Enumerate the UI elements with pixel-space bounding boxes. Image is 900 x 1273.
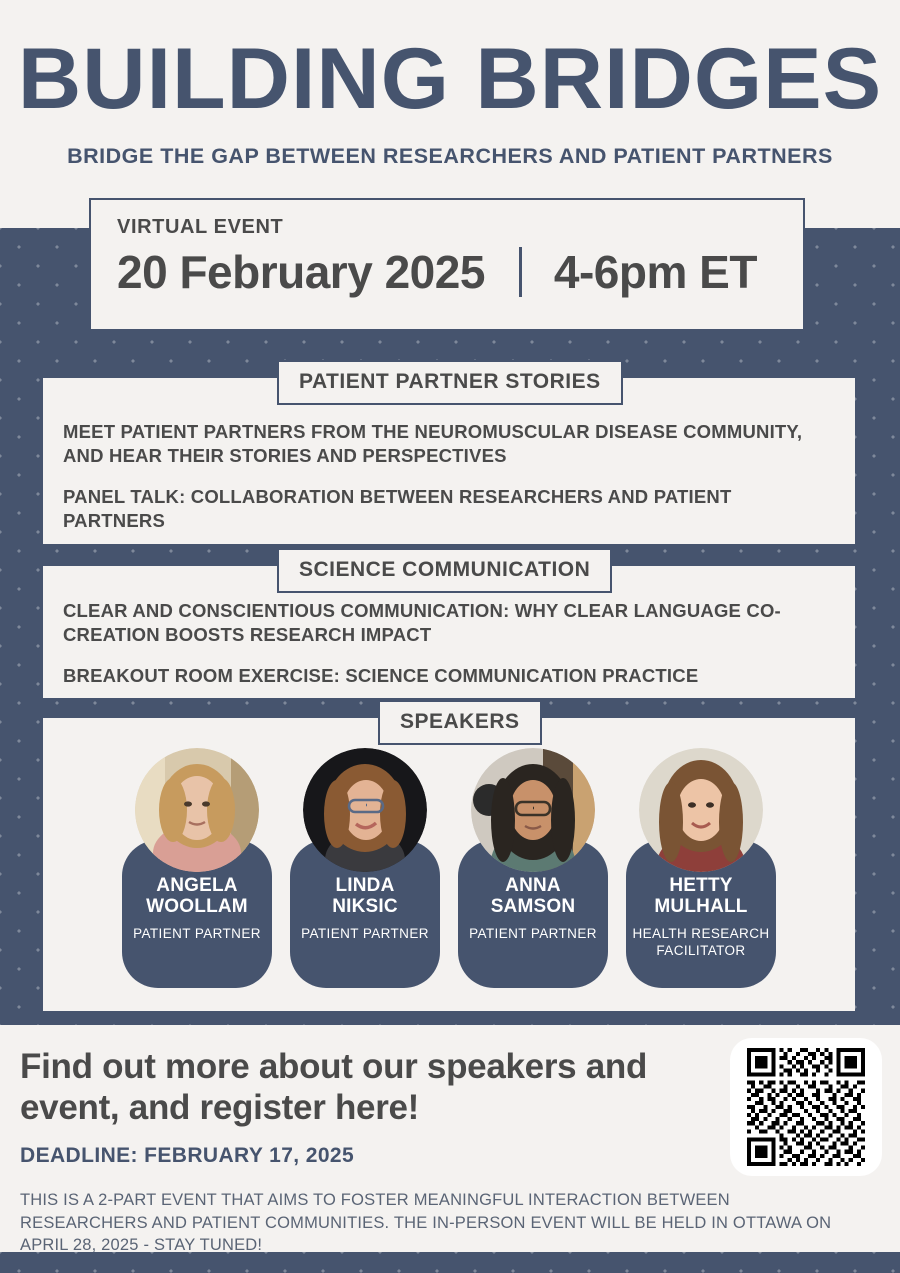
section-item: BREAKOUT ROOM EXERCISE: SCIENCE COMMUNIC…: [63, 664, 835, 688]
speaker-name-line-2: SAMSON: [462, 897, 604, 918]
poster-header: BUILDING BRIDGES BRIDGE THE GAP BETWEEN …: [0, 0, 900, 228]
footer-heading: Find out more about our speakers and eve…: [20, 1047, 710, 1128]
speaker-text: HETTY MULHALL HEALTH RESEARCH FACILITATO…: [626, 876, 776, 959]
speaker-name-line-1: ANGELA: [126, 876, 268, 897]
speaker-text: ANNA SAMSON PATIENT PARTNER: [458, 876, 608, 943]
event-date: 20 February 2025: [117, 245, 485, 299]
section-label-science-communication: SCIENCE COMMUNICATION: [277, 548, 612, 593]
speaker-name-line-1: HETTY: [630, 876, 772, 897]
speaker-card-angela-woollam: ANGELA WOOLLAM PATIENT PARTNER: [122, 748, 272, 988]
page-title: BUILDING BRIDGES: [0, 0, 900, 122]
event-time: 4-6pm ET: [554, 245, 757, 299]
section-item: CLEAR AND CONSCIENTIOUS COMMUNICATION: W…: [63, 599, 835, 648]
speaker-photo-angela-woollam: [135, 748, 259, 872]
speaker-name-line-1: ANNA: [462, 876, 604, 897]
qr-code-container[interactable]: [730, 1038, 882, 1176]
qr-code-icon[interactable]: [747, 1048, 865, 1166]
speaker-card-linda-niksic: LINDA NIKSIC PATIENT PARTNER: [290, 748, 440, 988]
event-type-label: VIRTUAL EVENT: [117, 216, 777, 239]
bottom-decorative-strip: [0, 1252, 900, 1273]
speaker-card-hetty-mulhall: HETTY MULHALL HEALTH RESEARCH FACILITATO…: [626, 748, 776, 988]
speaker-photo-anna-samson: [471, 748, 595, 872]
section-item: PANEL TALK: COLLABORATION BETWEEN RESEAR…: [63, 485, 835, 534]
event-datetime-row: 20 February 2025 4-6pm ET: [117, 245, 777, 299]
speaker-role: PATIENT PARTNER: [294, 926, 436, 942]
vertical-divider: [519, 247, 522, 297]
speaker-text: ANGELA WOOLLAM PATIENT PARTNER: [122, 876, 272, 943]
section-label-speakers: SPEAKERS: [378, 700, 542, 745]
speaker-card-anna-samson: ANNA SAMSON PATIENT PARTNER: [458, 748, 608, 988]
speaker-text: LINDA NIKSIC PATIENT PARTNER: [290, 876, 440, 943]
section-label-patient-partner-stories: PATIENT PARTNER STORIES: [277, 360, 623, 405]
section-item: MEET PATIENT PARTNERS FROM THE NEUROMUSC…: [63, 420, 835, 469]
speakers-row: ANGELA WOOLLAM PATIENT PARTNER: [43, 748, 855, 988]
event-details-card: VIRTUAL EVENT 20 February 2025 4-6pm ET: [89, 198, 805, 331]
speaker-role: PATIENT PARTNER: [126, 926, 268, 942]
speaker-name-line-2: MULHALL: [630, 897, 772, 918]
footer-note: THIS IS A 2-PART EVENT THAT AIMS TO FOST…: [20, 1189, 855, 1256]
speaker-name-line-2: NIKSIC: [294, 897, 436, 918]
speaker-photo-hetty-mulhall: [639, 748, 763, 872]
poster-subtitle: BRIDGE THE GAP BETWEEN RESEARCHERS AND P…: [0, 144, 900, 169]
speaker-photo-linda-niksic: [303, 748, 427, 872]
event-poster: BUILDING BRIDGES BRIDGE THE GAP BETWEEN …: [0, 0, 900, 1273]
speaker-role: HEALTH RESEARCH FACILITATOR: [630, 926, 772, 959]
speaker-name-line-2: WOOLLAM: [126, 897, 268, 918]
speaker-role: PATIENT PARTNER: [462, 926, 604, 942]
speaker-name-line-1: LINDA: [294, 876, 436, 897]
